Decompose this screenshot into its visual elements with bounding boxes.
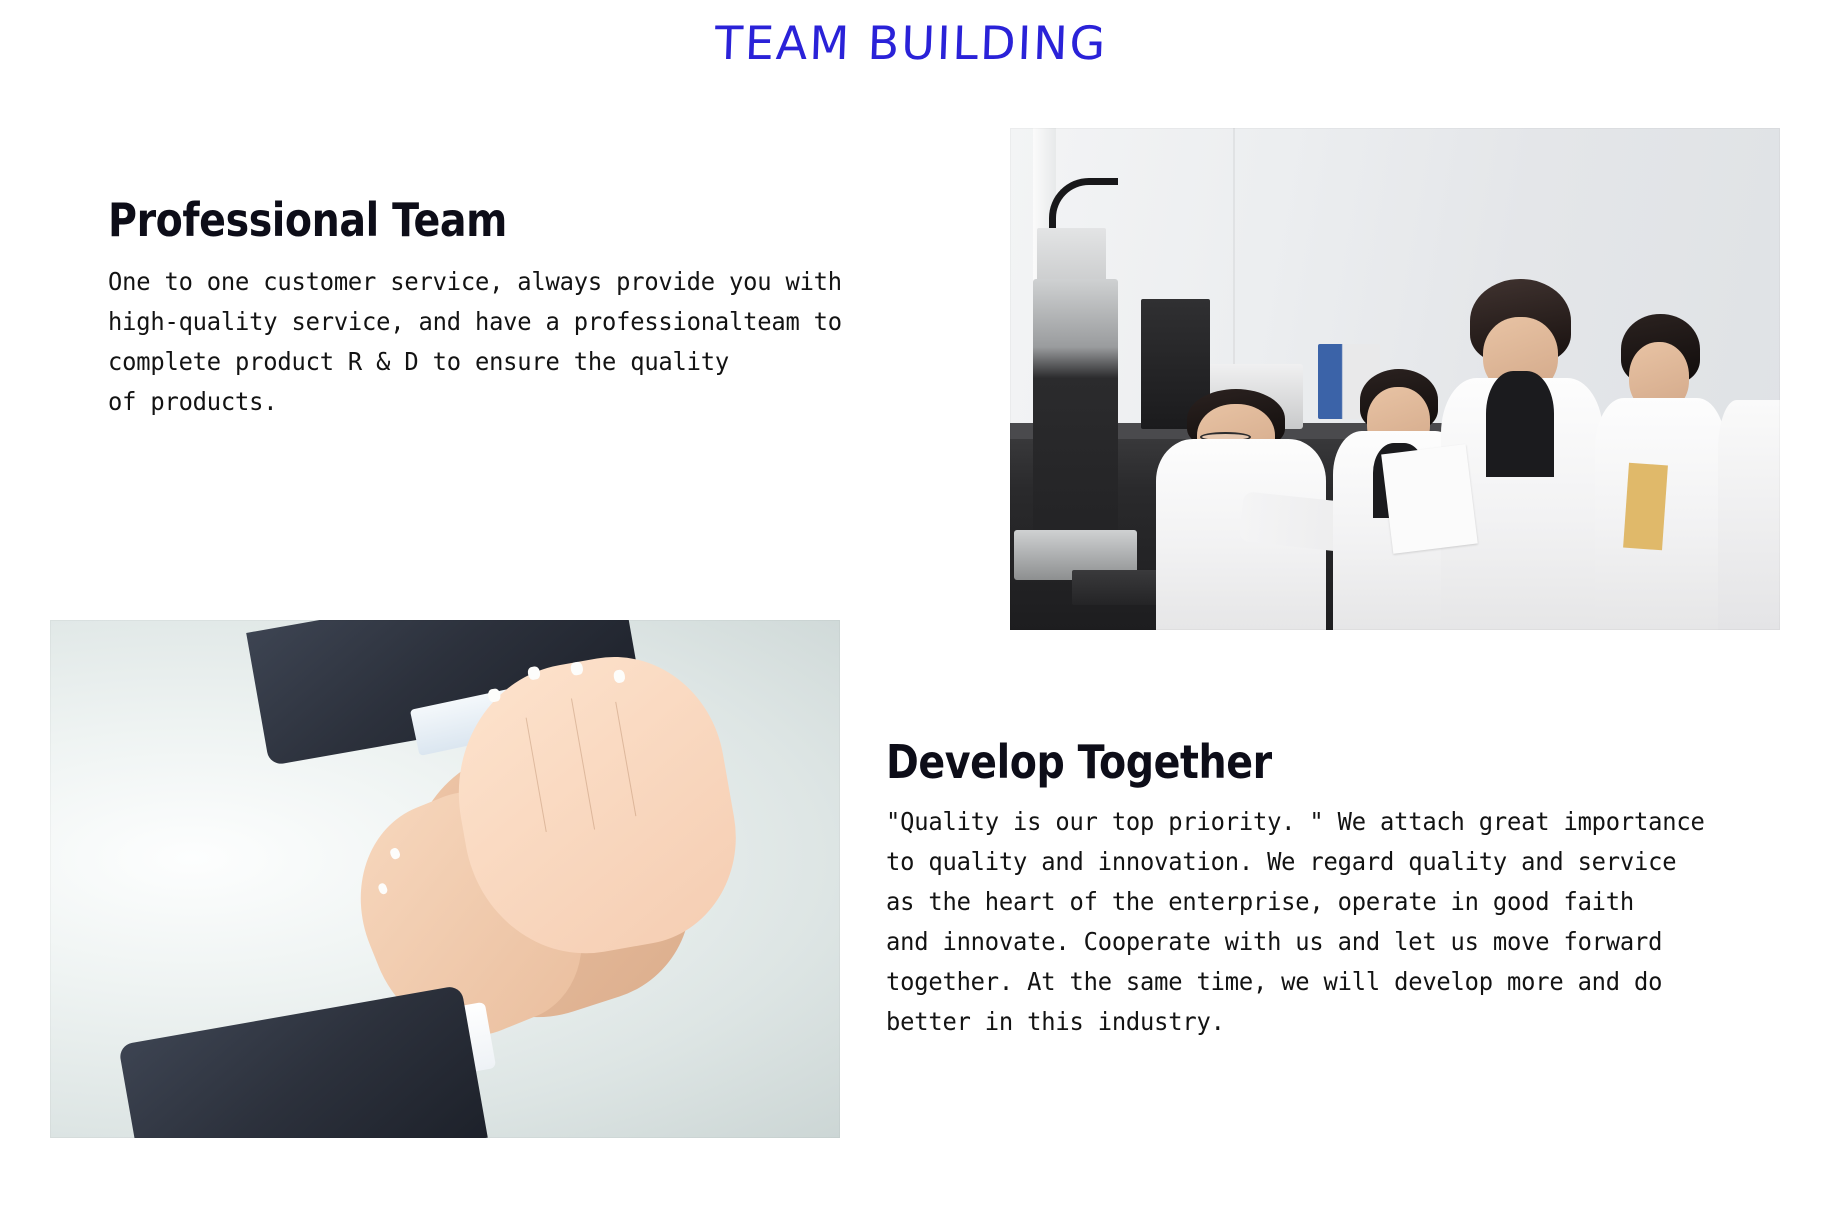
fingernail	[570, 662, 583, 677]
fingernail	[377, 882, 389, 895]
lab-team-photo	[1010, 128, 1780, 630]
section-develop-together: Develop Together "Quality is our top pri…	[886, 738, 1816, 1042]
fingernail	[612, 669, 625, 684]
lab-microscope	[1033, 279, 1118, 540]
team-building-page: TEAM BUILDING Professional Team One to o…	[0, 0, 1822, 1213]
fingernail	[389, 847, 401, 860]
section-professional-team: Professional Team One to one customer se…	[108, 196, 988, 422]
lab-person-right	[1595, 279, 1726, 630]
finger-line	[571, 699, 595, 831]
fingernail	[527, 666, 540, 681]
section-body-professional-team: One to one customer service, always prov…	[108, 262, 962, 422]
lab-person-lead	[1441, 248, 1603, 630]
finger-line	[525, 718, 546, 832]
stacked-hands-photo	[50, 620, 840, 1138]
lab-person-far	[1718, 319, 1780, 630]
page-title: TEAM BUILDING	[0, 16, 1822, 70]
lab-coat	[1718, 400, 1780, 630]
section-heading-develop-together: Develop Together	[886, 738, 1686, 786]
folder	[1623, 463, 1667, 551]
section-body-develop-together: "Quality is our top priority. " We attac…	[886, 802, 1788, 1042]
section-heading-professional-team: Professional Team	[108, 196, 865, 244]
finger-line	[615, 703, 636, 817]
document-sheet	[1381, 445, 1477, 555]
inner-shirt	[1486, 371, 1554, 478]
fingernail	[487, 688, 500, 703]
